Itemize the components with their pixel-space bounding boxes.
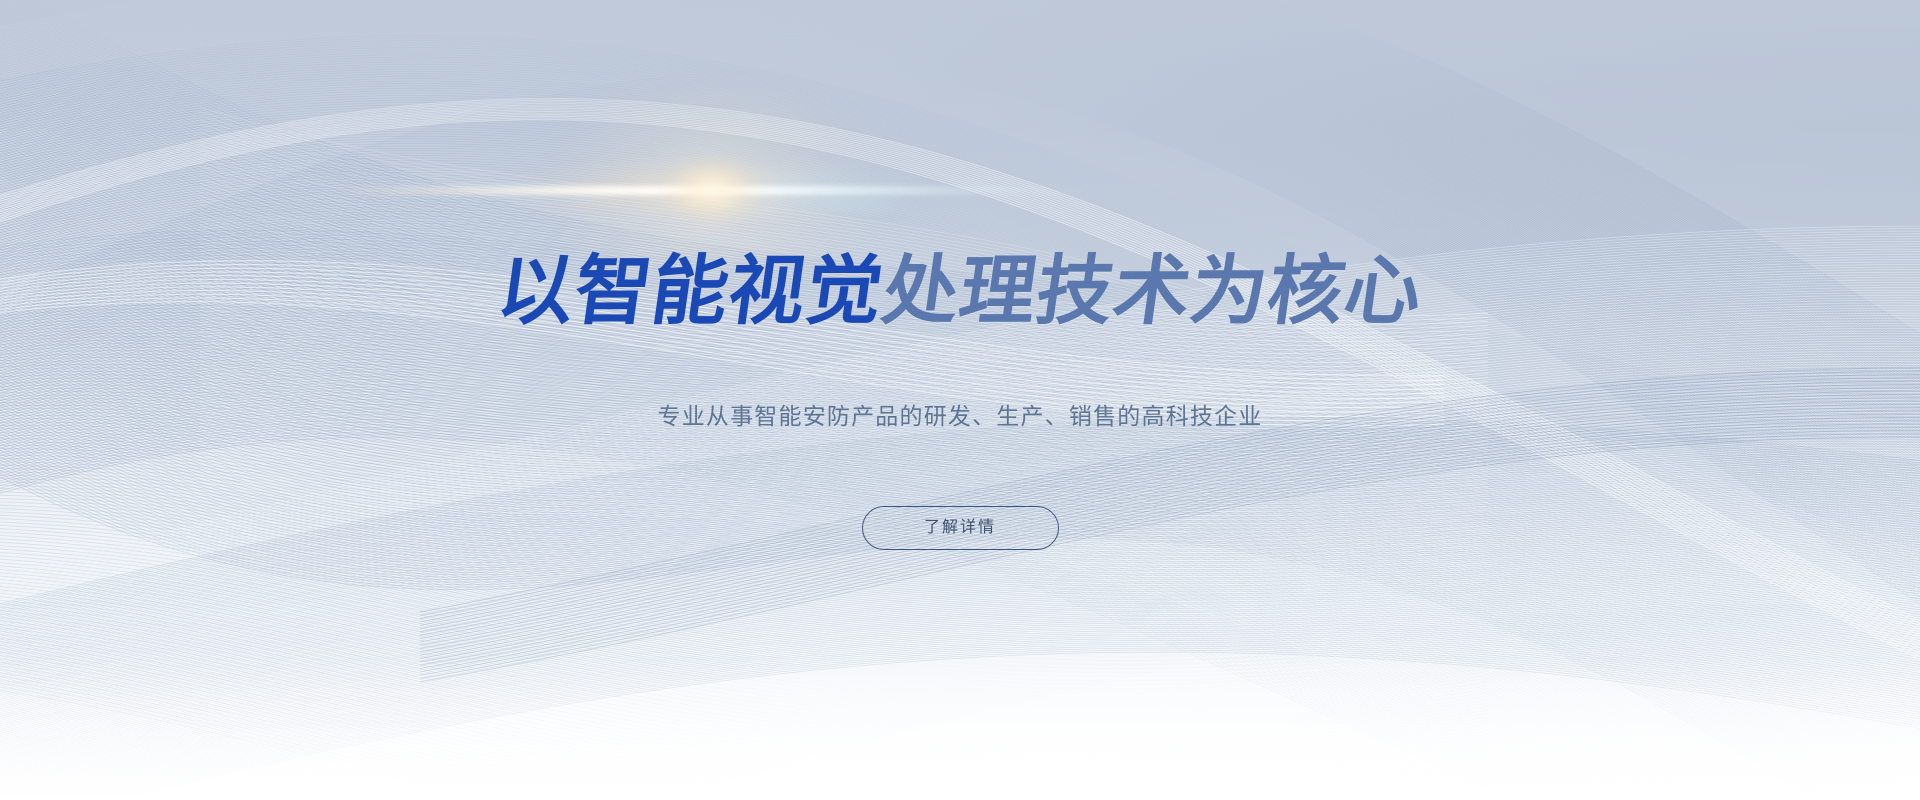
page-subtitle: 专业从事智能安防产品的研发、生产、销售的高科技企业 xyxy=(0,400,1920,432)
headline-accent-segment: 以智能视觉 xyxy=(492,249,889,334)
learn-more-button[interactable]: 了解详情 xyxy=(862,506,1059,550)
headline-muted-segment: 处理技术为核心 xyxy=(877,249,1428,334)
page-title: 以智能视觉处理技术为核心 xyxy=(0,254,1920,330)
hero-banner: 以智能视觉处理技术为核心 专业从事智能安防产品的研发、生产、销售的高科技企业 了… xyxy=(0,0,1920,800)
cta-container: 了解详情 xyxy=(0,506,1920,550)
